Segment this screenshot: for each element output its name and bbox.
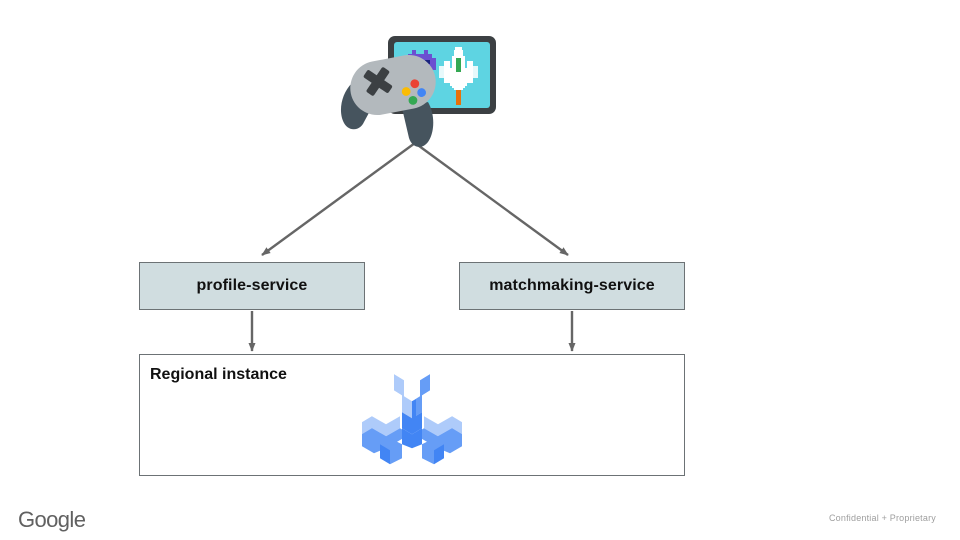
google-logo: Google — [18, 506, 138, 534]
rocket-window-icon — [456, 58, 461, 72]
cluster-compute-icon — [354, 366, 470, 472]
confidentiality-note: Confidential + Proprietary — [829, 513, 936, 523]
rocket-flame-icon — [456, 90, 461, 105]
edge-client-to-profile-service — [262, 143, 415, 255]
gamepad-icon — [341, 50, 440, 147]
cluster-prong-top-right-outer — [422, 374, 430, 395]
node-profile-service[interactable]: profile-service — [139, 262, 365, 310]
node-regional-instance[interactable]: Regional instance — [139, 354, 685, 476]
node-matchmaking-service[interactable]: matchmaking-service — [459, 262, 685, 310]
node-profile-service-label: profile-service — [197, 277, 308, 295]
gaming-console-and-screen-icon — [336, 30, 502, 150]
slide-canvas: profile-service matchmaking-service Regi… — [0, 0, 960, 540]
node-regional-instance-label: Regional instance — [150, 366, 287, 384]
cluster-prong-top-left-outer — [394, 374, 402, 395]
node-matchmaking-service-label: matchmaking-service — [489, 277, 655, 295]
edge-client-to-matchmaking-service — [415, 143, 568, 255]
google-logo-text: Google — [18, 507, 86, 532]
